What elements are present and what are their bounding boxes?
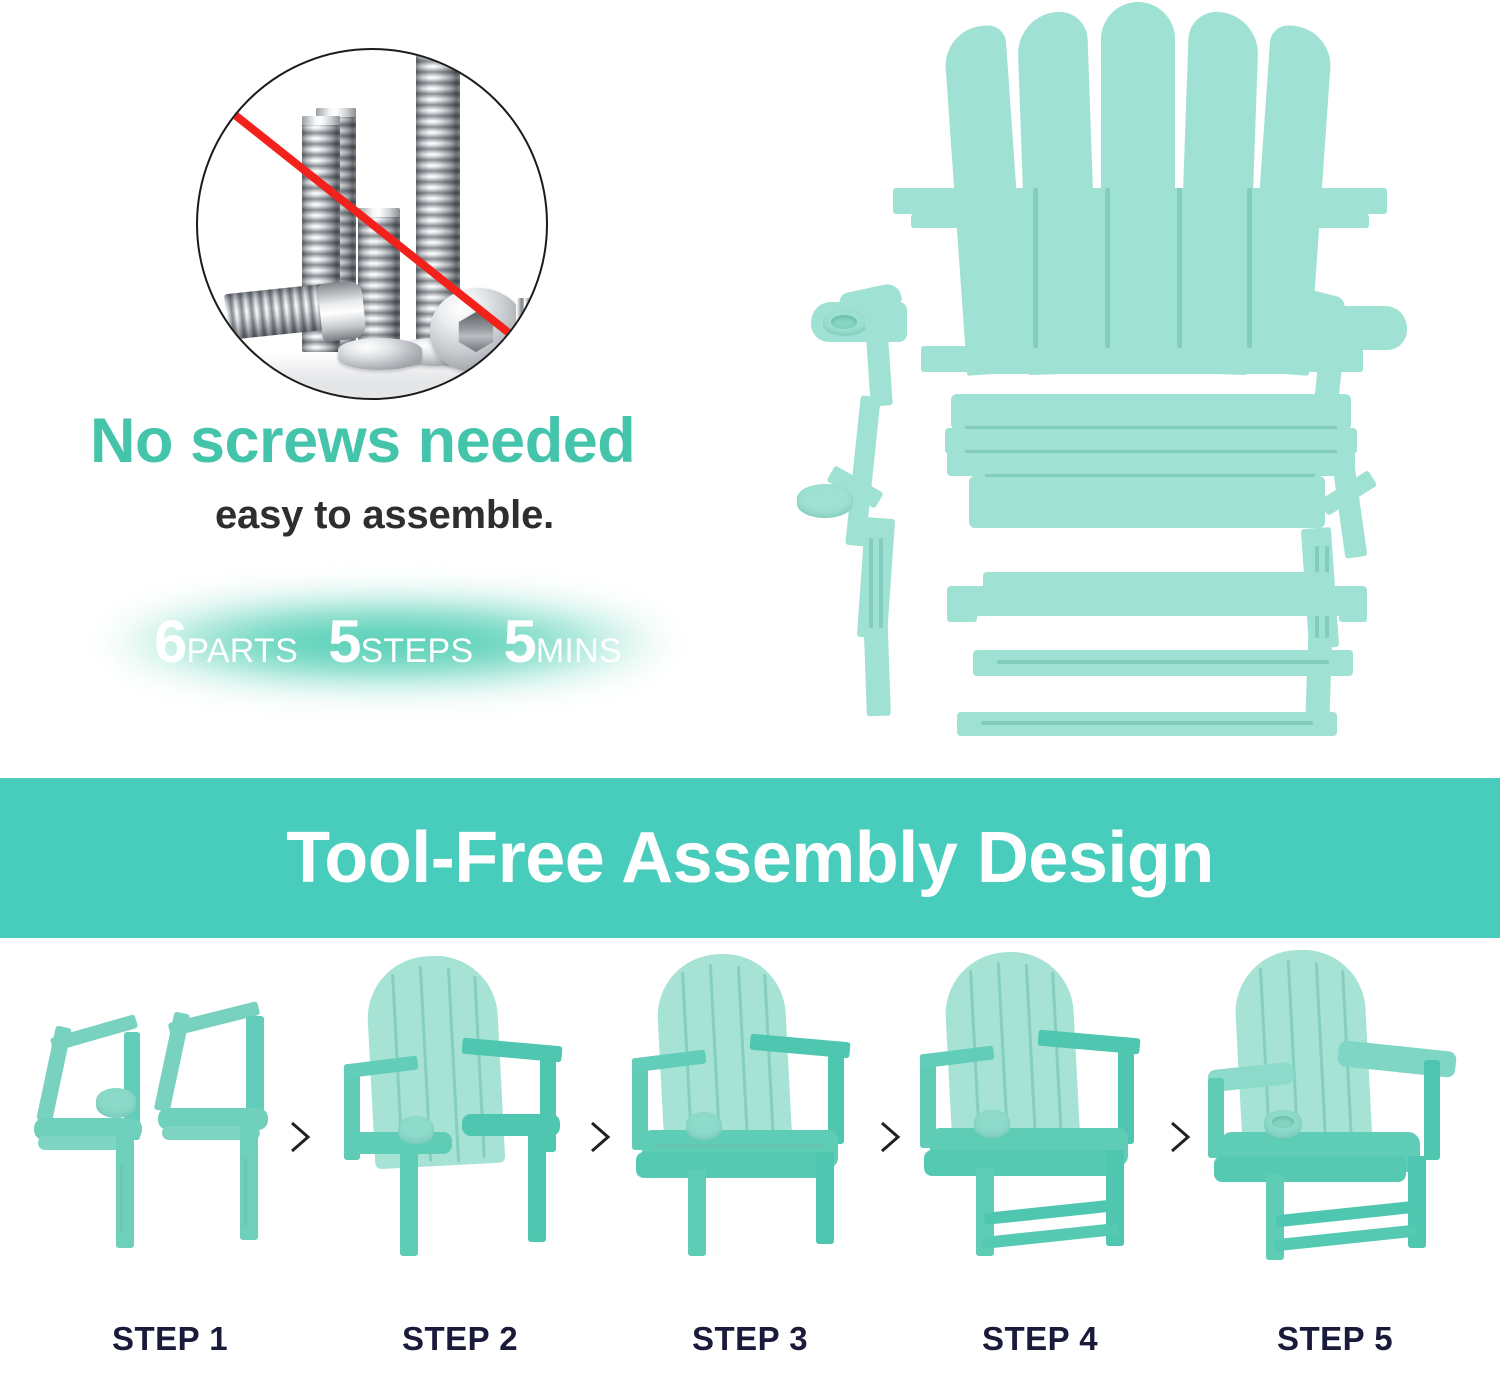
rail-groove: [981, 721, 1313, 725]
frame-left-leg: [688, 1170, 706, 1256]
seat-front-edge: [1214, 1156, 1406, 1182]
backrest-left-foot: [921, 346, 985, 372]
step-4-illustration: [900, 938, 1170, 1328]
stat-mins: 5 MINS: [503, 612, 622, 672]
seat-groove: [965, 426, 1337, 429]
step-2-art: [320, 938, 590, 1268]
backrest-groove: [1105, 188, 1110, 348]
stat-parts-unit: PARTS: [186, 634, 298, 668]
frame-right-post: [828, 1044, 844, 1144]
part-support-rail-lower: [957, 712, 1337, 736]
infographic-page: No screws needed easy to assemble. 6 PAR…: [0, 0, 1500, 1379]
brace-right-notch: [1339, 602, 1367, 622]
stat-parts: 6 PARTS: [154, 612, 298, 672]
seat-front-edge: [636, 1152, 824, 1178]
frame-right-leg: [528, 1128, 546, 1242]
stat-mins-unit: MINS: [536, 634, 622, 668]
lower-cross-brace-lower: [1274, 1225, 1416, 1252]
step-1-illustration: [10, 938, 280, 1328]
stat-steps: 5 STEPS: [328, 612, 473, 672]
cup-holder-ring: [398, 1116, 434, 1144]
seat-groove: [985, 474, 1315, 477]
seat-front-edge: [924, 1150, 1114, 1176]
frame-leg: [116, 1132, 134, 1248]
headline-no-screws: No screws needed: [90, 409, 730, 473]
frame-foot: [863, 608, 891, 717]
lower-cross-brace-upper: [984, 1199, 1119, 1225]
no-screws-photo-circle: [196, 48, 548, 400]
top-section: No screws needed easy to assemble. 6 PAR…: [0, 0, 1500, 778]
cup-holder-ring: [96, 1088, 136, 1118]
backrest-groove: [1247, 188, 1252, 348]
tool-free-banner: Tool-Free Assembly Design: [0, 778, 1500, 938]
backrest-right-tab: [1309, 188, 1387, 214]
step-2-label: STEP 2: [330, 1320, 590, 1358]
lying-bolt-head: [317, 280, 367, 342]
screws-bolts-photo: [198, 50, 546, 398]
seat-slat: [947, 452, 1355, 476]
step-4-art: [900, 938, 1170, 1268]
stud-cap: [416, 48, 460, 53]
assembly-steps-section: STEP 1 STEP 2 STEP 3 STEP 4 STEP 5: [0, 938, 1500, 1379]
frame-groove: [879, 538, 883, 628]
backrest-left-tab: [893, 188, 971, 214]
brace-top-lip: [983, 572, 1331, 590]
rail-groove: [997, 660, 1329, 664]
step-3-illustration: [610, 938, 880, 1328]
step-5-label: STEP 5: [1205, 1320, 1465, 1358]
step-5-illustration: [1190, 938, 1480, 1328]
backrest-groove: [1177, 188, 1182, 348]
backrest-groove: [1033, 188, 1038, 348]
lower-cross-brace-lower: [982, 1223, 1119, 1249]
part-seat-slat-assembly: [945, 394, 1360, 554]
cup-holder-hole: [1272, 1116, 1294, 1128]
seat-groove: [965, 450, 1337, 453]
backrest-left-tab-lip: [911, 214, 971, 228]
frame-groove: [244, 1158, 247, 1226]
step-1-art: [10, 938, 280, 1268]
stat-steps-unit: STEPS: [360, 634, 473, 668]
short-stud-flange: [338, 338, 422, 370]
step-3-label: STEP 3: [620, 1320, 880, 1358]
part-front-cross-brace: [947, 572, 1367, 622]
frame-right-post: [1424, 1060, 1440, 1160]
exploded-parts-diagram: [795, 0, 1500, 760]
cup-holder-ring: [974, 1110, 1010, 1138]
backrest-right-tab-lip: [1309, 214, 1369, 228]
seat-groove: [656, 1144, 822, 1147]
step-4-label: STEP 4: [910, 1320, 1170, 1358]
stat-mins-number: 5: [503, 612, 535, 672]
frame-right-leg: [816, 1152, 834, 1244]
step-separator-1: [288, 1120, 314, 1154]
frame-left-leg: [400, 1146, 418, 1256]
brace-left-notch: [947, 602, 977, 622]
completed-chair: [1208, 950, 1458, 1260]
seat-slat: [951, 394, 1351, 430]
step-1-label: STEP 1: [40, 1320, 300, 1358]
stats-list: 6 PARTS 5 STEPS 5 MINS: [88, 582, 688, 702]
part-support-rail-upper: [973, 650, 1353, 676]
part-left-side-frame: [809, 288, 919, 718]
side-frame-right: [158, 1012, 278, 1242]
cup-holder-lower-ring: [797, 484, 853, 518]
frame-groove: [120, 1166, 123, 1232]
steps-row: [0, 938, 1500, 1328]
banner-title: Tool-Free Assembly Design: [286, 817, 1214, 899]
chair-with-seat: [632, 954, 852, 1258]
frame-groove: [869, 538, 873, 628]
lower-cross-brace-upper: [1276, 1201, 1416, 1228]
subheadline-easy-assemble: easy to assemble.: [215, 493, 735, 538]
step-5-art: [1190, 938, 1480, 1268]
step-labels-row: STEP 1 STEP 2 STEP 3 STEP 4 STEP 5: [0, 1320, 1500, 1379]
seat-front-edge: [969, 476, 1325, 528]
chair-partial-backrest: [344, 956, 564, 1256]
step-3-art: [610, 938, 880, 1268]
stat-steps-number: 5: [328, 612, 360, 672]
step-2-illustration: [320, 938, 590, 1328]
side-frame-left: [32, 1026, 152, 1256]
stat-parts-number: 6: [154, 612, 186, 672]
brace-body: [947, 586, 1367, 616]
stud-cap: [302, 116, 340, 125]
stats-badge: 6 PARTS 5 STEPS 5 MINS: [88, 582, 688, 702]
backrest-lower-body: [977, 188, 1303, 374]
chair-with-braces: [920, 952, 1144, 1258]
cup-holder-ring: [686, 1112, 722, 1140]
frame-leg: [240, 1122, 258, 1240]
cup-holder-hole: [831, 315, 857, 329]
armrest-front: [1303, 306, 1407, 350]
